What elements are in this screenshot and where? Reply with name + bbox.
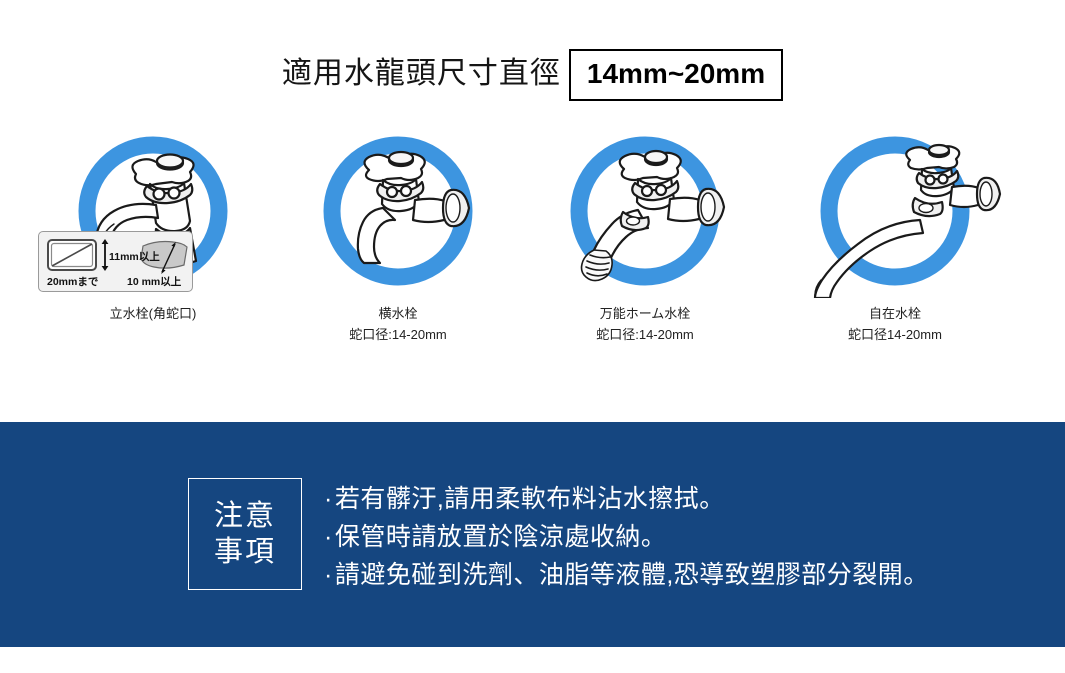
faucet-name-3: 万能ホーム水栓 <box>520 305 770 323</box>
notice-list: ·若有髒汙,請用柔軟布料沾水擦拭。 ·保管時請放置於陰涼處收納。 ·請避免碰到洗… <box>324 478 929 594</box>
notice-item: ·請避免碰到洗劑、油脂等液體,恐導致塑膠部分裂開。 <box>324 556 929 594</box>
notice-badge-line2: 事項 <box>214 534 276 570</box>
notice-item-text: 請避免碰到洗劑、油脂等液體,恐導致塑膠部分裂開。 <box>335 561 929 589</box>
faucet-spec-4: 蛇口径14-20mm <box>770 326 1020 344</box>
faucet-item-4: 自在水栓 蛇口径14-20mm <box>770 128 1020 353</box>
notice-item: ·若有髒汙,請用柔軟布料沾水擦拭。 <box>324 480 929 518</box>
bullet-marker: · <box>324 556 333 594</box>
spout-dimension-callout: 11mm以上 20mmまで 10 mm以上 <box>38 231 193 292</box>
notice-item-text: 若有髒汙,請用柔軟布料沾水擦拭。 <box>335 485 725 513</box>
bullet-marker: · <box>324 480 333 518</box>
faucet-spec-2: 蛇口径:14-20mm <box>273 326 523 344</box>
notice-badge: 注意 事項 <box>188 478 302 590</box>
faucet-name-1: 立水栓(角蛇口) <box>28 305 278 323</box>
size-range-box: 14mm~20mm <box>569 49 783 101</box>
notice-badge-line1: 注意 <box>214 498 276 534</box>
notice-content: 注意 事項 ·若有髒汙,請用柔軟布料沾水擦拭。 ·保管時請放置於陰涼處收納。 ·… <box>188 478 929 594</box>
faucet-name-4: 自在水栓 <box>770 305 1020 323</box>
notice-item-text: 保管時請放置於陰涼處收納。 <box>335 523 667 551</box>
notice-item: ·保管時請放置於陰涼處收納。 <box>324 518 929 556</box>
swivel-spout-faucet-icon <box>770 128 1020 298</box>
dim-depth-label: 10 mm以上 <box>127 275 182 288</box>
page-title: 適用水龍頭尺寸直徑 <box>282 59 561 91</box>
faucet-spec-3: 蛇口径:14-20mm <box>520 326 770 344</box>
dim-height-label: 11mm以上 <box>109 250 160 263</box>
wall-faucet-icon <box>273 128 523 298</box>
dim-width-label: 20mmまで <box>47 276 99 288</box>
header: 適用水龍頭尺寸直徑 14mm~20mm <box>0 44 1065 106</box>
bullet-marker: · <box>324 518 333 556</box>
universal-home-faucet-icon <box>520 128 770 298</box>
faucet-item-2: 横水栓 蛇口径:14-20mm <box>273 128 523 353</box>
faucet-item-1: 11mm以上 20mmまで 10 mm以上 立水栓(角蛇口) <box>28 128 278 353</box>
faucet-name-2: 横水栓 <box>273 305 523 323</box>
faucet-type-row: 11mm以上 20mmまで 10 mm以上 立水栓(角蛇口) <box>0 128 1065 353</box>
notice-banner: 注意 事項 ·若有髒汙,請用柔軟布料沾水擦拭。 ·保管時請放置於陰涼處收納。 ·… <box>0 422 1065 647</box>
faucet-item-3: 万能ホーム水栓 蛇口径:14-20mm <box>520 128 770 353</box>
